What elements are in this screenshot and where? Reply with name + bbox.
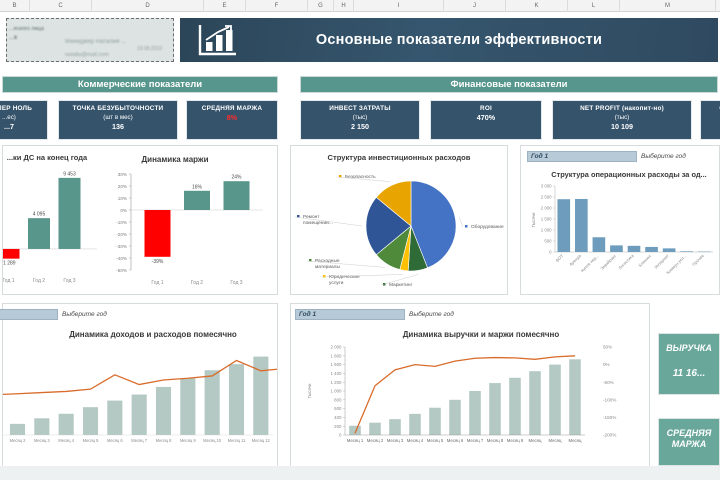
svg-text:-100%: -100% xyxy=(603,397,616,402)
watermark-line-5: 19.08.2023 xyxy=(137,46,162,52)
svg-text:Месяц 6: Месяц 6 xyxy=(107,438,123,443)
svg-text:-200%: -200% xyxy=(603,433,616,438)
svg-text:1 800: 1 800 xyxy=(331,353,343,358)
column-header-D[interactable]: D xyxy=(92,0,204,12)
income-bars-group: Месяц 1Месяц 2Месяц 3Месяц 4Месяц 5Месяц… xyxy=(3,357,277,443)
pie-slices-group xyxy=(366,181,456,271)
svg-text:1 500: 1 500 xyxy=(541,217,552,222)
svg-text:-30%: -30% xyxy=(116,244,127,249)
top-band: ...еского лица ...в Менеджер Наталия ...… xyxy=(0,14,720,66)
svg-text:Год 3: Год 3 xyxy=(230,280,242,286)
dashboard-title-bar: Основные показатели эффективности xyxy=(180,18,718,62)
svg-text:Месяц 2: Месяц 2 xyxy=(10,438,26,443)
chart-title-opex: Структура операционных расходы за од... xyxy=(551,170,706,179)
kpi-card-commercial-0: ...ОПЕР НОЛЬ...ес)...7 xyxy=(0,100,48,140)
kpi-label: NET PROFIT (накопит-но) xyxy=(553,104,691,113)
svg-text:-20%: -20% xyxy=(116,232,127,237)
svg-text:помещении...: помещении... xyxy=(303,221,333,226)
svg-text:материалы: материалы xyxy=(315,265,340,270)
svg-text:1 000: 1 000 xyxy=(331,389,343,394)
panel-revenue-margin: Год 1 Выберите год Динамика выручки и ма… xyxy=(290,303,650,468)
panel-income-expense: Выберите год Динамика доходов и расходов… xyxy=(2,303,278,468)
column-header-B[interactable]: B xyxy=(0,0,30,12)
svg-text:4 095: 4 095 xyxy=(33,212,46,218)
panel-opex: Год 1 Выберите год Структура операционны… xyxy=(520,145,720,295)
svg-text:Месяц 6: Месяц 6 xyxy=(447,438,464,443)
chart-title-capex: Структура инвестиционных расходов xyxy=(328,153,471,162)
watermark-box: ...еского лица ...в Менеджер Наталия ...… xyxy=(6,18,174,62)
kpi-value: 470% xyxy=(431,113,541,123)
svg-text:Год 2: Год 2 xyxy=(33,278,45,284)
chart-capex-pie: Структура инвестиционных расходов Оборуд… xyxy=(291,146,507,294)
svg-text:30%: 30% xyxy=(118,172,127,177)
svg-text:Месяц 3: Месяц 3 xyxy=(387,438,404,443)
column-header-C[interactable]: C xyxy=(30,0,92,12)
svg-text:50%: 50% xyxy=(603,345,612,350)
column-header-N[interactable]: N xyxy=(716,0,720,12)
margin-bars-group: 30%20%10%0%-10%-20%-30%-40%-50%-39%Год 1… xyxy=(116,172,263,286)
svg-text:Интернет: Интернет xyxy=(653,253,670,270)
green-card-margin: СРЕДНЯЯ МАРЖА xyxy=(658,418,720,466)
svg-text:-1 289: -1 289 xyxy=(3,261,16,267)
svg-text:Маркетинг: Маркетинг xyxy=(389,282,413,288)
chart-title-margin: Динамика маржи xyxy=(141,155,208,164)
column-header-J[interactable]: J xyxy=(444,0,506,12)
svg-text:-150%: -150% xyxy=(603,415,616,420)
panel-year-charts: ...ки ДС на конец года -1 289Год 14 095Г… xyxy=(2,145,278,295)
svg-text:Месяц 7: Месяц 7 xyxy=(131,438,147,443)
panel-capex-pie: Структура инвестиционных расходов Оборуд… xyxy=(290,145,508,295)
year-combo-opex[interactable]: Год 1 xyxy=(527,151,637,162)
kpi-card-financial-1: ROI470% xyxy=(430,100,542,140)
revenue-bars-group: Тысячи2 0001 8001 6001 4001 2001 0008006… xyxy=(307,345,616,443)
svg-text:0: 0 xyxy=(339,433,342,438)
svg-text:Месяц 4: Месяц 4 xyxy=(58,438,74,443)
svg-text:Клининг: Клининг xyxy=(638,253,653,268)
kpi-value: 8% xyxy=(187,113,277,123)
kpi-card-commercial-1: ТОЧКА БЕЗУБЫТОЧНОСТИ(шт в мес)136 xyxy=(58,100,178,140)
green-card-margin-label: СРЕДНЯЯ МАРЖА xyxy=(659,419,719,450)
svg-text:20%: 20% xyxy=(118,184,127,189)
svg-text:Месяц 9: Месяц 9 xyxy=(507,438,524,443)
section-header-financial: Финансовые показатели xyxy=(300,76,718,93)
svg-text:Месяц 8: Месяц 8 xyxy=(487,438,504,443)
kpi-value: 10 109 xyxy=(553,122,691,132)
svg-text:Месяц 7: Месяц 7 xyxy=(467,438,484,443)
svg-text:Месяц 12: Месяц 12 xyxy=(252,438,271,443)
year-hint-income: Выберите год xyxy=(62,311,107,318)
svg-text:0%: 0% xyxy=(603,362,610,367)
svg-text:3 000: 3 000 xyxy=(541,184,552,189)
green-card-revenue-value: 11 16... xyxy=(659,354,719,380)
year-hint-opex: Выберите год xyxy=(641,153,686,160)
svg-text:Месяц: Месяц xyxy=(529,438,542,443)
column-header-L[interactable]: L xyxy=(568,0,620,12)
kpi-label: ROI xyxy=(431,104,541,113)
svg-text:600: 600 xyxy=(334,406,342,411)
section-header-commercial: Коммерческие показатели xyxy=(2,76,278,93)
svg-text:Месяц 8: Месяц 8 xyxy=(156,438,172,443)
bar-chart-growth-icon xyxy=(196,23,240,57)
column-header-M[interactable]: M xyxy=(620,0,716,12)
column-header-E[interactable]: E xyxy=(204,0,246,12)
svg-text:Прочее: Прочее xyxy=(691,253,705,267)
svg-text:Месяц: Месяц xyxy=(569,438,582,443)
svg-text:1 200: 1 200 xyxy=(331,380,343,385)
svg-text:Год 3: Год 3 xyxy=(63,278,75,284)
svg-text:услуги: услуги xyxy=(329,281,344,286)
chart-opex: Структура операционных расходы за од... … xyxy=(521,166,719,294)
svg-text:Год 1: Год 1 xyxy=(3,278,15,284)
svg-text:Месяц: Месяц xyxy=(549,438,562,443)
svg-text:24%: 24% xyxy=(231,175,242,181)
svg-text:Год 2: Год 2 xyxy=(191,280,203,286)
svg-text:-40%: -40% xyxy=(116,256,127,261)
column-header-K[interactable]: K xyxy=(506,0,568,12)
svg-text:Месяц 5: Месяц 5 xyxy=(427,438,444,443)
kpi-card-financial-2: NET PROFIT (накопит-но)(тыс)10 109 xyxy=(552,100,692,140)
svg-text:ФОТ: ФОТ xyxy=(555,253,565,263)
svg-text:Месяц 5: Месяц 5 xyxy=(83,438,99,443)
svg-text:1 600: 1 600 xyxy=(331,362,343,367)
kpi-unit: (тыс) xyxy=(301,113,419,122)
chart-title-cash: ...ки ДС на конец года xyxy=(7,153,88,162)
kpi-card-financial-0: ИНВЕСТ ЗАТРАТЫ(тыс)2 150 xyxy=(300,100,420,140)
year-selector-income[interactable]: Выберите год xyxy=(0,309,163,320)
svg-text:400: 400 xyxy=(334,415,342,420)
svg-text:-10%: -10% xyxy=(116,220,127,225)
watermark-line-3: Менеджер Наталия ... xyxy=(65,39,126,45)
column-header-F[interactable]: F xyxy=(246,0,308,12)
svg-text:Год 1: Год 1 xyxy=(151,280,163,286)
svg-text:500: 500 xyxy=(544,239,552,244)
kpi-card-financial-3: СРОК О... xyxy=(700,100,720,140)
svg-text:2 000: 2 000 xyxy=(331,345,343,350)
svg-text:2 500: 2 500 xyxy=(541,195,552,200)
column-header-row: BCDEFGHIJKLMN xyxy=(0,0,720,12)
year-combo-revenue[interactable]: Год 1 xyxy=(295,309,405,320)
svg-text:-50%: -50% xyxy=(603,380,614,385)
svg-text:Логистика: Логистика xyxy=(617,253,635,271)
svg-text:Месяц 2: Месяц 2 xyxy=(367,438,384,443)
kpi-label: ТОЧКА БЕЗУБЫТОЧНОСТИ xyxy=(59,104,177,113)
svg-text:200: 200 xyxy=(334,424,342,429)
svg-text:Месяц 4: Месяц 4 xyxy=(407,438,424,443)
chart-title-revenue: Динамика выручки и маржи помесячно xyxy=(403,330,560,339)
svg-text:Месяц 3: Месяц 3 xyxy=(34,438,50,443)
svg-text:Купля нед...: Купля нед... xyxy=(580,253,600,273)
kpi-label: ...ОПЕР НОЛЬ xyxy=(0,104,47,113)
year-hint-revenue: Выберите год xyxy=(409,311,454,318)
svg-text:Месяц 1: Месяц 1 xyxy=(347,438,364,443)
svg-text:-50%: -50% xyxy=(116,268,127,273)
svg-text:Юридические: Юридические xyxy=(329,274,360,280)
opex-bars-group: Тысячи3 0002 5002 0001 5001 0005000ФОТАр… xyxy=(531,184,713,276)
page-title: Основные показатели эффективности xyxy=(240,32,718,48)
kpi-value: 136 xyxy=(59,122,177,132)
column-header-I[interactable]: I xyxy=(354,0,444,12)
watermark-line-4: natalia@mail.com xyxy=(65,52,109,58)
svg-text:Тысячи: Тысячи xyxy=(307,383,312,399)
svg-text:9 453: 9 453 xyxy=(63,171,76,177)
kpi-card-commercial-2: СРЕДНЯЯ МАРЖА8% xyxy=(186,100,278,140)
chart-cash-and-margin: ...ки ДС на конец года -1 289Год 14 095Г… xyxy=(3,146,277,294)
svg-text:Аренда: Аренда xyxy=(568,253,582,267)
green-card-revenue: ВЫРУЧКА 11 16... xyxy=(658,333,720,395)
kpi-unit: (шт в мес) xyxy=(59,113,177,122)
kpi-unit: (тыс) xyxy=(553,113,691,122)
year-selector-opex[interactable]: Год 1 Выберите год xyxy=(527,151,713,162)
svg-text:1 000: 1 000 xyxy=(541,228,552,233)
svg-text:800: 800 xyxy=(334,397,342,402)
kpi-value: ...7 xyxy=(0,122,47,132)
svg-text:0%: 0% xyxy=(120,208,127,213)
chart-revenue-margin: Динамика выручки и маржи помесячно Тысяч… xyxy=(291,325,649,467)
chart-title-income: Динамика доходов и расходов помесячно xyxy=(69,330,237,339)
svg-text:Эквайринг: Эквайринг xyxy=(599,253,617,271)
bottom-strip xyxy=(0,466,720,480)
spreadsheet-dashboard: BCDEFGHIJKLMN ...еского лица ...в Менедж… xyxy=(0,0,720,480)
svg-text:0: 0 xyxy=(549,250,552,255)
svg-text:Тысячи: Тысячи xyxy=(531,212,536,228)
cash-bars-group: -1 289Год 14 095Год 29 453Год 3 xyxy=(3,171,97,284)
svg-text:Месяц 10: Месяц 10 xyxy=(203,438,222,443)
year-selector-revenue[interactable]: Год 1 Выберите год xyxy=(295,309,525,320)
svg-text:-39%: -39% xyxy=(152,259,164,265)
watermark-line-2: ...в xyxy=(9,35,17,41)
green-card-margin-value xyxy=(659,450,719,464)
chart-income-expense: Динамика доходов и расходов помесячно Ме… xyxy=(3,325,277,467)
svg-text:1 400: 1 400 xyxy=(331,371,343,376)
svg-text:16%: 16% xyxy=(192,184,203,190)
kpi-label: СРОК О... xyxy=(701,104,720,113)
svg-text:Оборудование: Оборудование xyxy=(471,224,504,230)
svg-text:Месяц 9: Месяц 9 xyxy=(180,438,196,443)
kpi-unit: ...ес) xyxy=(0,113,47,122)
kpi-label: СРЕДНЯЯ МАРЖА xyxy=(187,104,277,113)
svg-text:2 000: 2 000 xyxy=(541,206,552,211)
watermark-line-1: ...еского лица xyxy=(9,26,44,32)
svg-text:10%: 10% xyxy=(118,196,127,201)
svg-text:Месяц 11: Месяц 11 xyxy=(228,438,246,443)
svg-text:Расходные: Расходные xyxy=(315,258,340,264)
year-combo-income[interactable] xyxy=(0,309,58,320)
kpi-label: ИНВЕСТ ЗАТРАТЫ xyxy=(301,104,419,113)
kpi-value: 2 150 xyxy=(301,122,419,132)
column-header-G[interactable]: G xyxy=(308,0,334,12)
column-header-H[interactable]: H xyxy=(334,0,354,12)
green-card-revenue-label: ВЫРУЧКА xyxy=(659,334,719,354)
